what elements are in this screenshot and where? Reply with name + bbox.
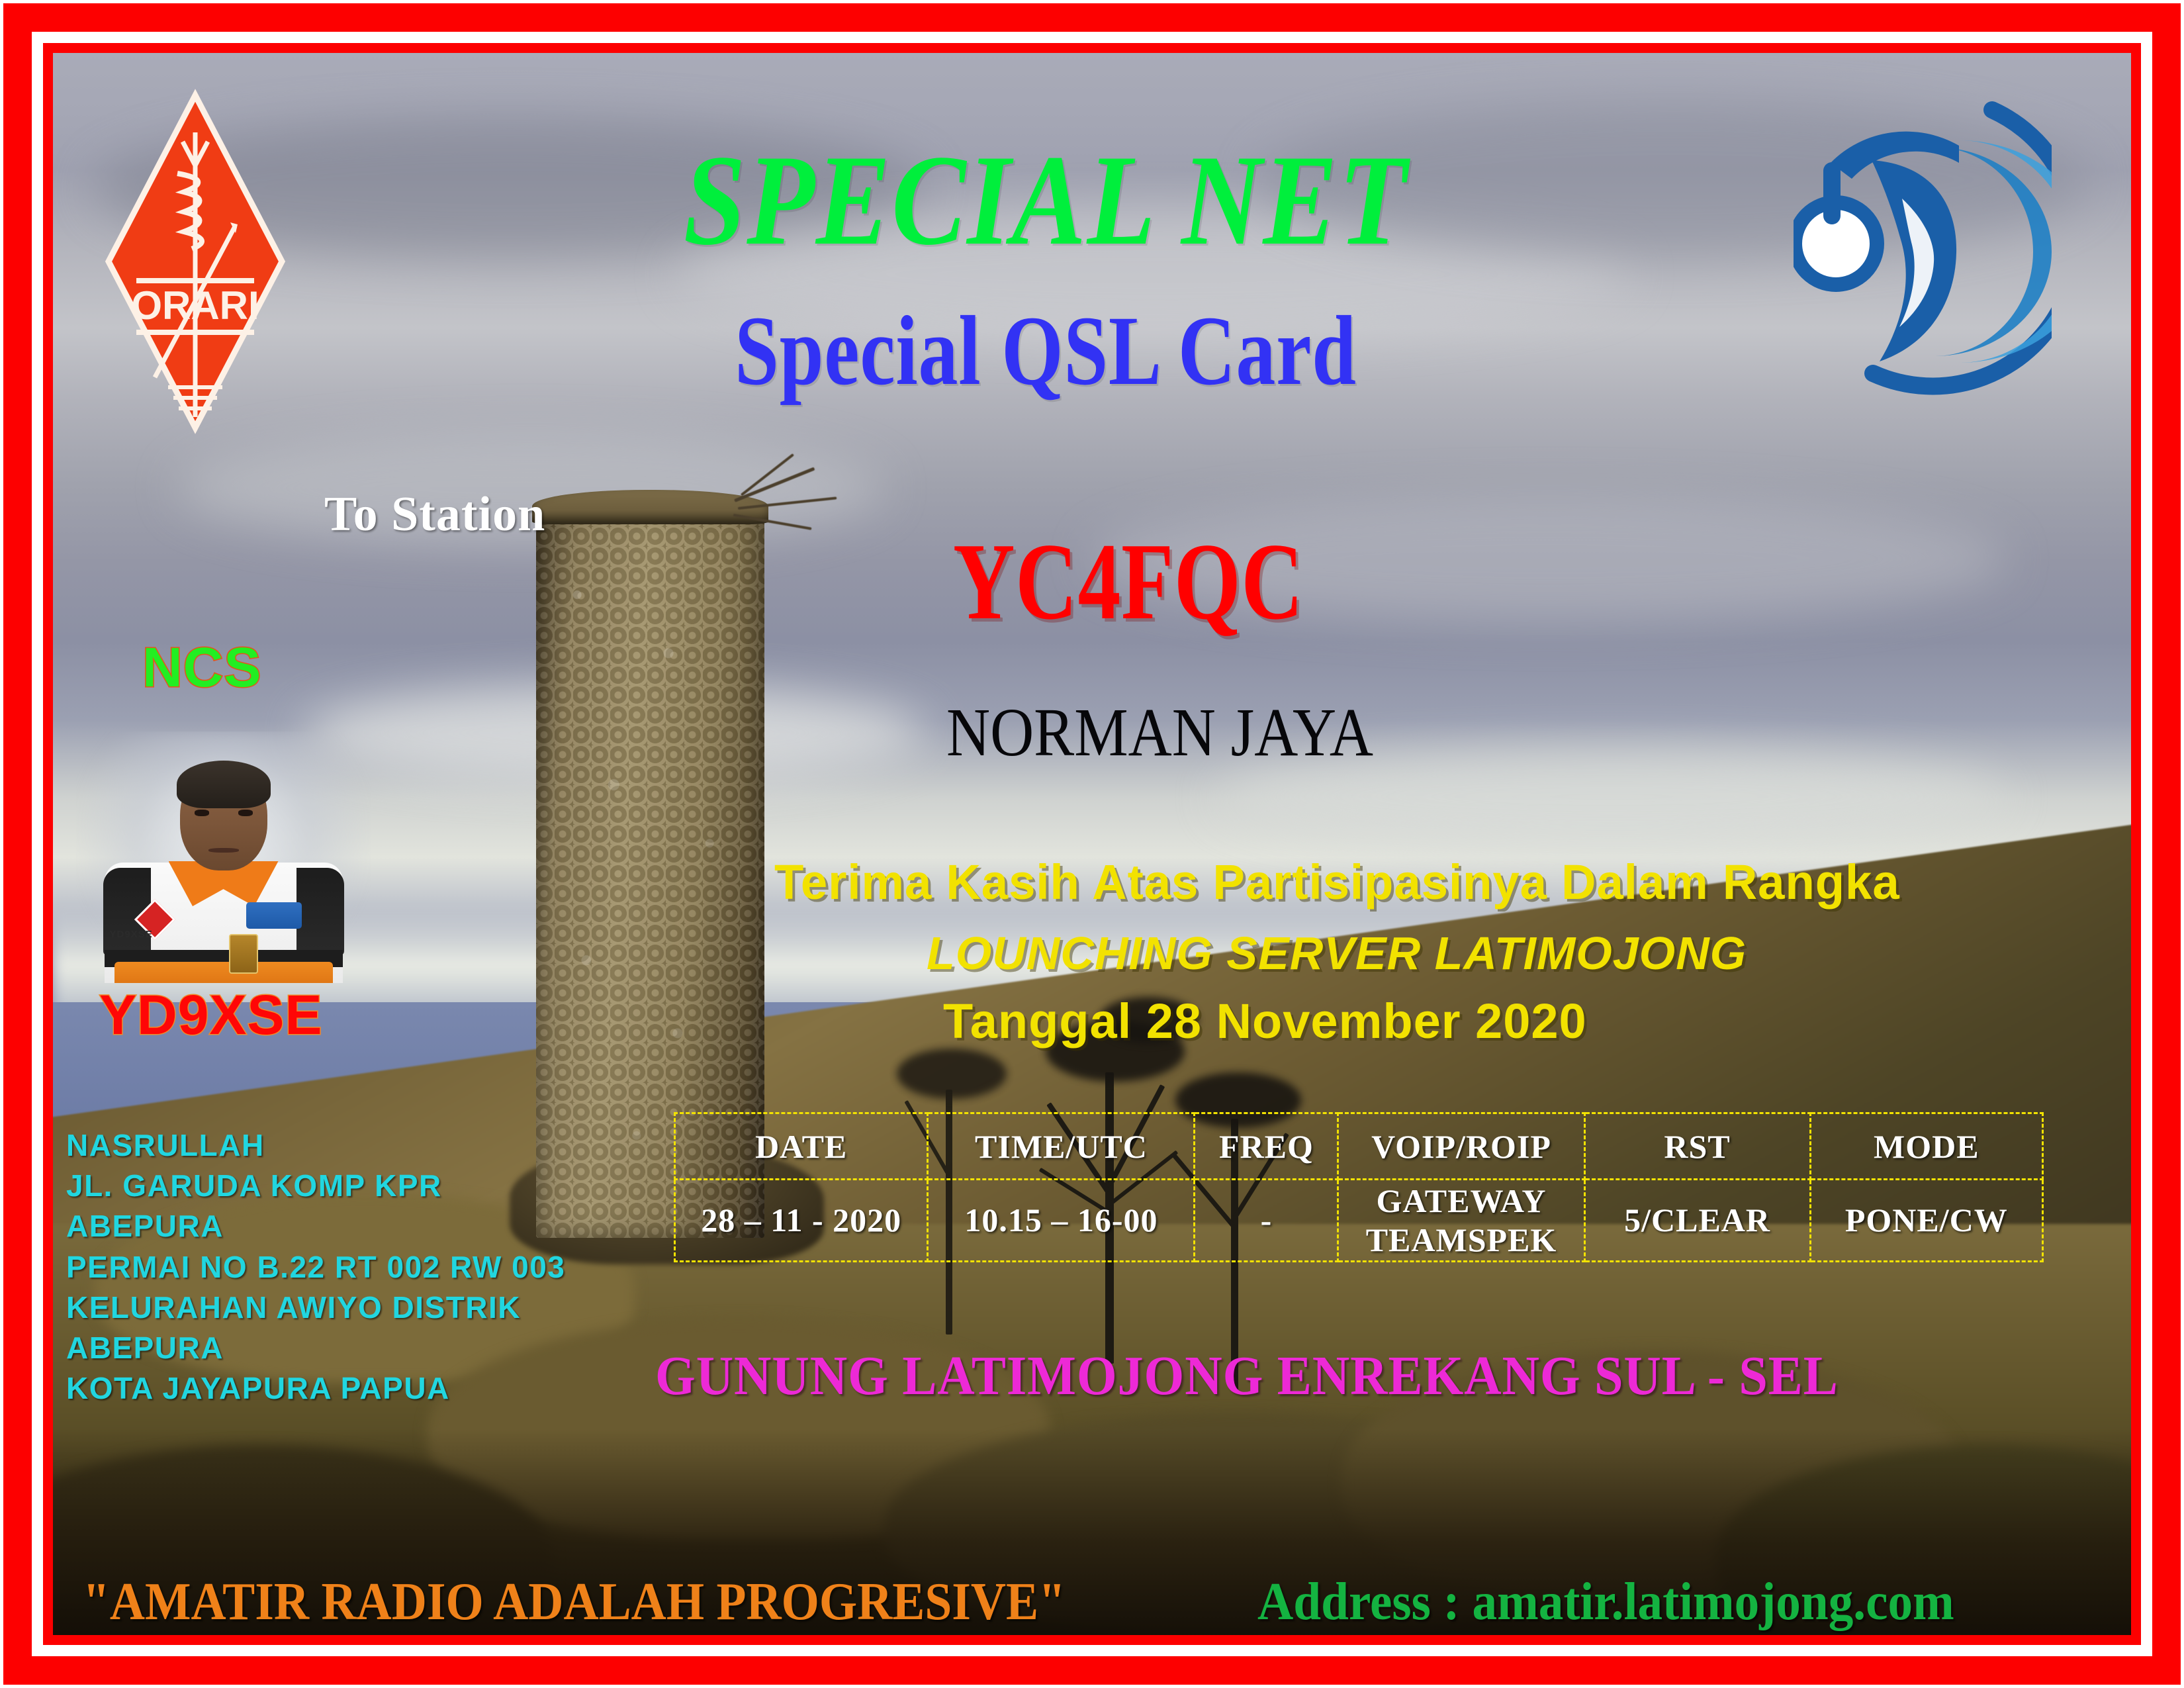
address-line: JL. GARUDA KOMP KPR xyxy=(66,1166,565,1206)
qsl-card: ORARI SPECIAL NET Special QSL Card To St… xyxy=(0,0,2184,1688)
table-header-freq: FREQ xyxy=(1195,1113,1338,1180)
uniform-sash xyxy=(114,962,333,983)
cell-voip-line1: GATEWAY xyxy=(1376,1182,1546,1219)
operator-hair xyxy=(177,761,271,808)
uniform-id-card xyxy=(229,934,258,974)
address-line: KELURAHAN AWIYO DISTRIK xyxy=(66,1288,565,1328)
table-header-mode: MODE xyxy=(1810,1113,2042,1180)
card-content-overlay: ORARI SPECIAL NET Special QSL Card To St… xyxy=(0,0,2184,1688)
operator-mouth xyxy=(208,848,239,853)
event-title-line: LOUNCHING SERVER LATIMOJONG xyxy=(927,927,1747,980)
table-header-row: DATE TIME/UTC FREQ VOIP/ROIP RST MODE xyxy=(675,1113,2043,1180)
ncs-operator-photo: YD9XSE xyxy=(76,731,371,983)
event-date-line: Tanggal 28 November 2020 xyxy=(943,993,1587,1049)
address-line: ABEPURA xyxy=(66,1328,565,1368)
operator-name: NORMAN JAYA xyxy=(946,698,1529,767)
cell-rst: 5/CLEAR xyxy=(1584,1180,1810,1262)
address-line: ABEPURA xyxy=(66,1206,565,1246)
mailing-address: NASRULLAH JL. GARUDA KOMP KPR ABEPURA PE… xyxy=(66,1125,565,1409)
event-thanks-line: Terima Kasih Atas Partisipasinya Dalam R… xyxy=(774,854,1900,910)
table-header-time: TIME/UTC xyxy=(928,1113,1195,1180)
cell-freq: - xyxy=(1195,1180,1338,1262)
orari-logo: ORARI xyxy=(99,86,291,437)
station-callsign: YC4FQC xyxy=(953,526,1418,636)
address-line: KOTA JAYAPURA PAPUA xyxy=(66,1368,565,1409)
to-station-label: To Station xyxy=(324,487,545,543)
table-header-date: DATE xyxy=(675,1113,928,1180)
orari-logo-text: ORARI xyxy=(131,283,259,328)
table-header-rst: RST xyxy=(1584,1113,1810,1180)
cell-time: 10.15 – 16-00 xyxy=(928,1180,1195,1262)
address-line: NASRULLAH xyxy=(66,1125,565,1166)
address-line: PERMAI NO B.22 RT 002 RW 003 xyxy=(66,1247,565,1288)
ncs-label: NCS xyxy=(142,635,261,700)
eqso-headphone-logo xyxy=(1794,99,2052,404)
cell-voip-line2: TEAMSPEK xyxy=(1366,1221,1557,1258)
page-subtitle-special-qsl-card: Special QSL Card xyxy=(548,301,1543,400)
cell-mode: PONE/CW xyxy=(1810,1180,2042,1262)
cell-voip: GATEWAY TEAMSPEK xyxy=(1338,1180,1584,1262)
uniform-patch xyxy=(246,902,302,929)
footer-slogan: "AMATIR RADIO ADALAH PROGRESIVE" xyxy=(83,1572,1066,1632)
operator-eye-right xyxy=(238,810,253,816)
activation-location: GUNUNG LATIMOJONG ENREKANG SUL - SEL xyxy=(655,1344,1839,1408)
qso-details-table: DATE TIME/UTC FREQ VOIP/ROIP RST MODE 28… xyxy=(674,1112,2044,1262)
footer-web-address: Address : amatir.latimojong.com xyxy=(1257,1572,1954,1632)
operator-eye-left xyxy=(195,810,209,816)
ncs-callsign: YD9XSE xyxy=(99,983,323,1047)
page-title-special-net: SPECIAL NET xyxy=(511,136,1581,265)
uniform-shoulder-right xyxy=(296,868,344,955)
cell-date: 28 – 11 - 2020 xyxy=(675,1180,928,1262)
table-row: 28 – 11 - 2020 10.15 – 16-00 - GATEWAY T… xyxy=(675,1180,2043,1262)
uniform-callsign-tag: YD9XSE xyxy=(110,929,153,940)
table-header-voip: VOIP/ROIP xyxy=(1338,1113,1584,1180)
